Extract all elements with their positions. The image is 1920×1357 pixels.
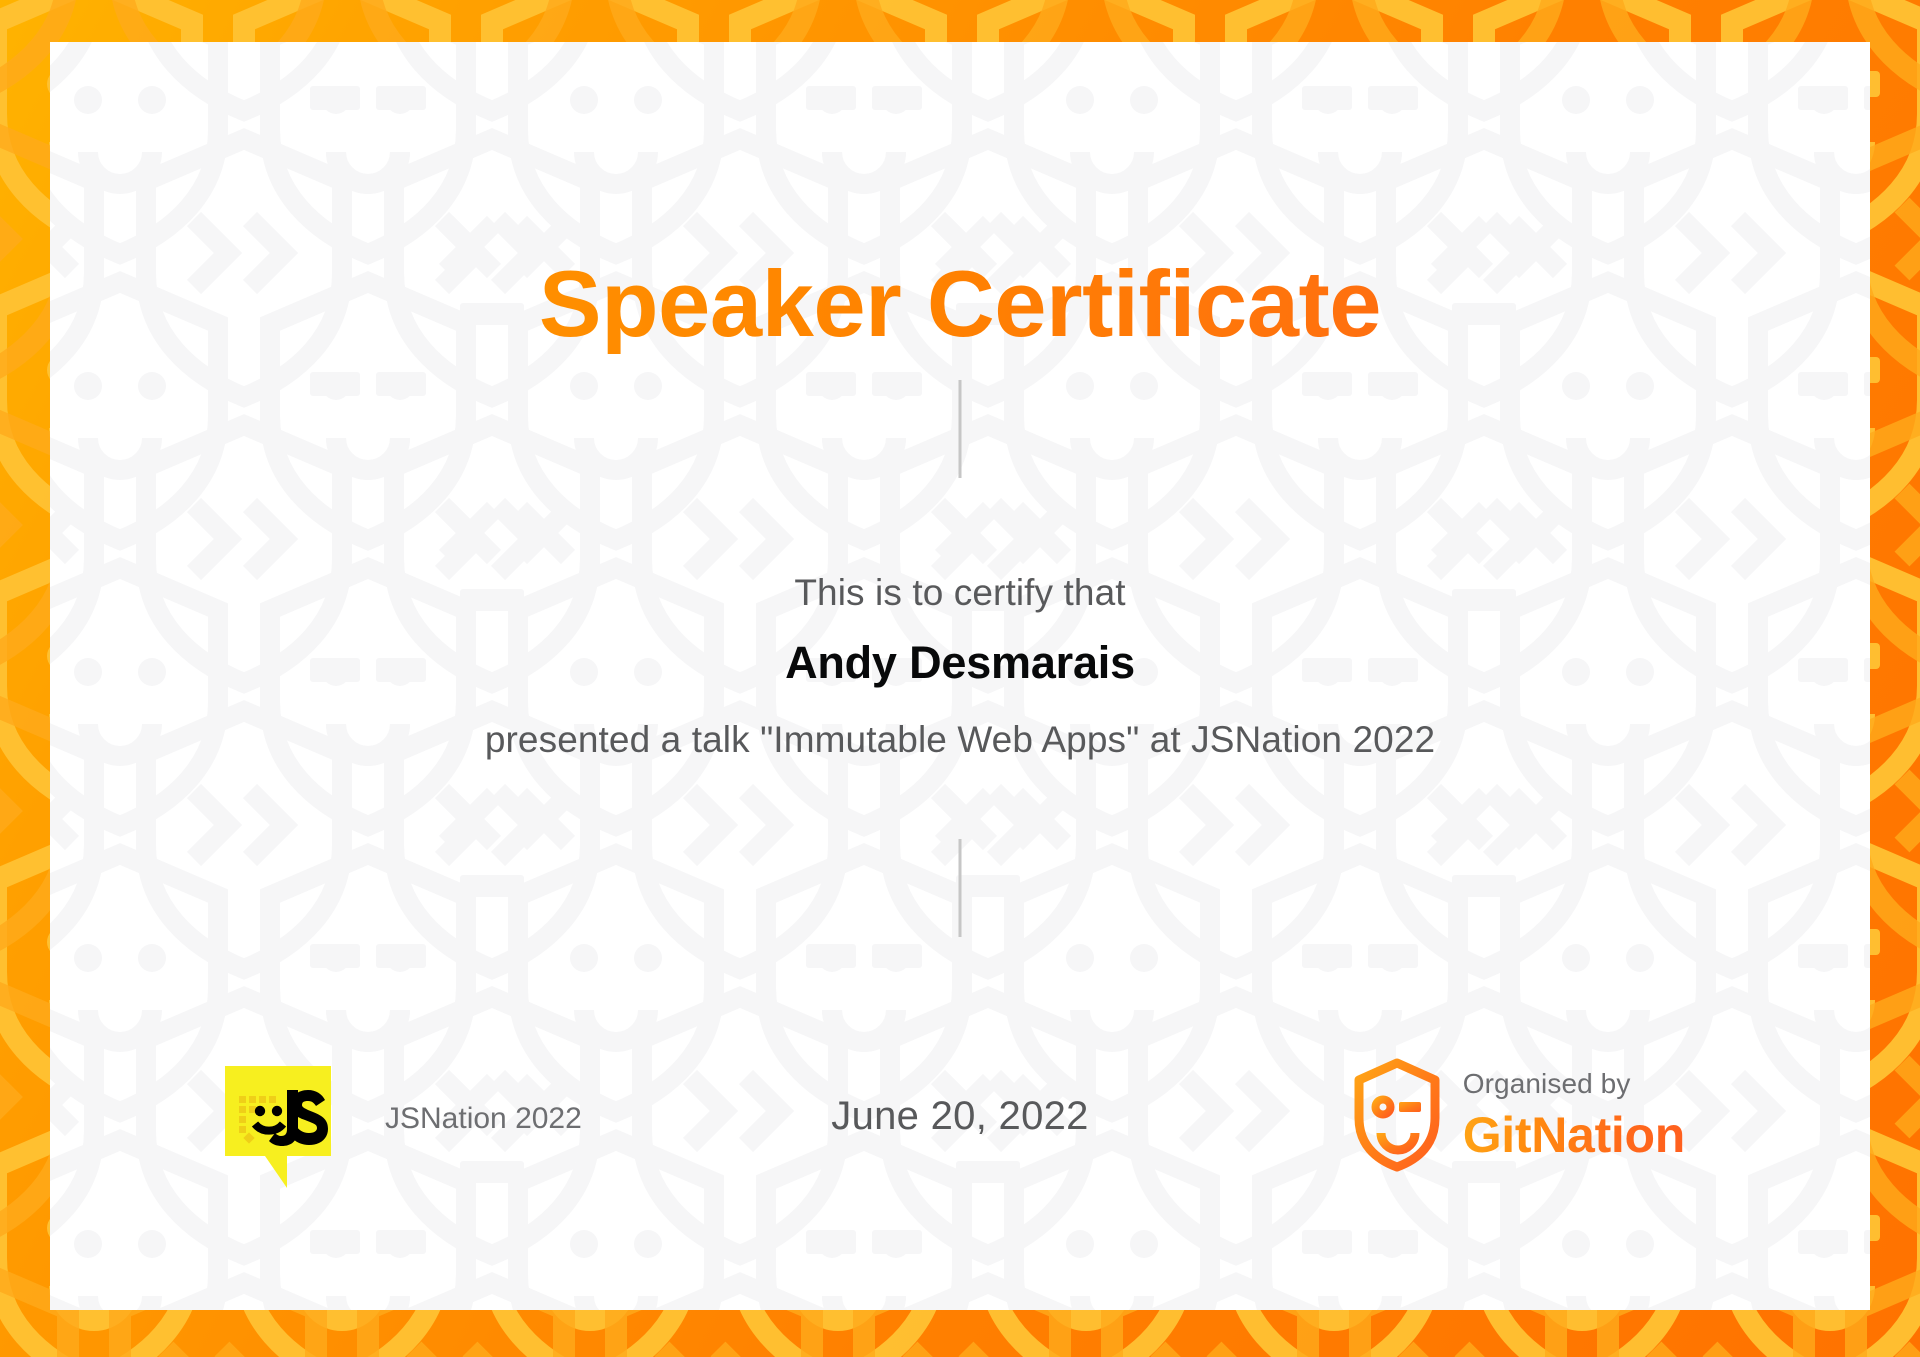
organiser-branding: Organised by GitNation bbox=[1353, 1058, 1685, 1172]
organised-by-label: Organised by bbox=[1463, 1070, 1685, 1098]
divider-top bbox=[959, 380, 962, 478]
talk-description: presented a talk "Immutable Web Apps" at… bbox=[50, 719, 1870, 761]
divider-bottom bbox=[959, 839, 962, 937]
page-title: Speaker Certificate bbox=[50, 255, 1870, 354]
recipient-name: Andy Desmarais bbox=[50, 637, 1870, 689]
gitnation-shield-icon bbox=[1353, 1058, 1441, 1172]
certificate-card: Speaker Certificate This is to certify t… bbox=[50, 42, 1870, 1310]
certify-line: This is to certify that bbox=[50, 572, 1870, 614]
organiser-name: GitNation bbox=[1463, 1110, 1685, 1160]
speaker-certificate: Speaker Certificate This is to certify t… bbox=[0, 0, 1920, 1357]
certificate-footer: JSNation 2022 June 20, 2022 bbox=[50, 1052, 1870, 1202]
